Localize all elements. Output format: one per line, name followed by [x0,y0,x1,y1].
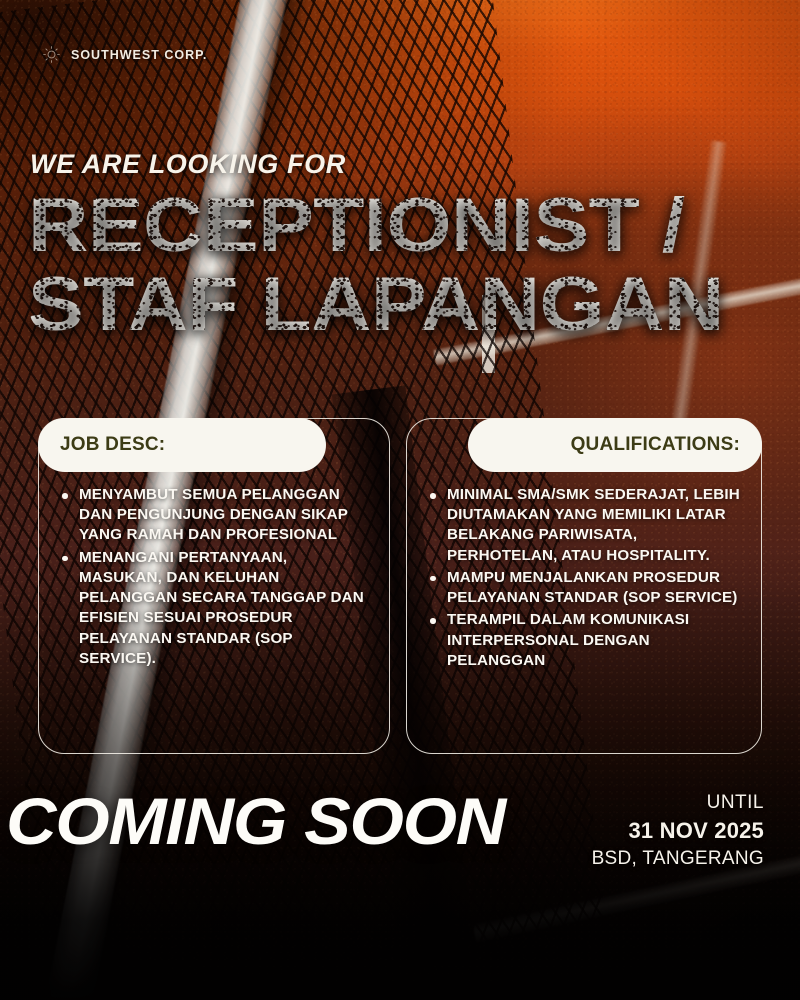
status-badge: COMING SOON [6,783,505,859]
list-item: MENYAMBUT SEMUA PELANGGAN DAN PENGUNJUNG… [79,485,371,546]
footer-details: UNTIL 31 NOV 2025 BSD, TANGERANG [592,790,764,874]
job-desc-card: JOB DESC: MENYAMBUT SEMUA PELANGGAN DAN … [38,418,390,754]
page-title: RECEPTIONIST / STAF LAPANGAN [28,190,768,348]
list-item: MINIMAL SMA/SMK SEDERAJAT, LEBIH DIUTAMA… [447,485,743,566]
deadline-date: 31 NOV 2025 [592,816,764,846]
qualifications-list: MINIMAL SMA/SMK SEDERAJAT, LEBIH DIUTAMA… [407,485,761,673]
brand-name: SOUTHWEST CORP. [71,48,207,62]
until-label: UNTIL [592,790,764,816]
headline-line-1: RECEPTIONIST / [28,190,800,263]
sun-burst-icon [42,45,61,64]
qualifications-card: QUALIFICATIONS: MINIMAL SMA/SMK SEDERAJA… [406,418,762,754]
job-desc-heading: JOB DESC: [60,434,165,456]
job-poster: SOUTHWEST CORP. WE ARE LOOKING FOR RECEP… [0,0,800,1000]
list-item: MENANGANI PERTANYAAN, MASUKAN, DAN KELUH… [79,548,371,669]
qualifications-header: QUALIFICATIONS: [468,418,762,472]
location-label: BSD, TANGERANG [592,845,764,874]
list-item: TERAMPIL DALAM KOMUNIKASI INTERPERSONAL … [447,610,743,671]
headline-line-2: STAF LAPANGAN [28,269,800,342]
brand-lockup: SOUTHWEST CORP. [42,45,207,64]
qualifications-heading: QUALIFICATIONS: [571,434,740,456]
job-desc-header: JOB DESC: [38,418,326,472]
hero-eyebrow: WE ARE LOOKING FOR [30,149,346,180]
job-desc-list: MENYAMBUT SEMUA PELANGGAN DAN PENGUNJUNG… [39,485,389,671]
list-item: MAMPU MENJALANKAN PROSEDUR PELAYANAN STA… [447,568,743,608]
